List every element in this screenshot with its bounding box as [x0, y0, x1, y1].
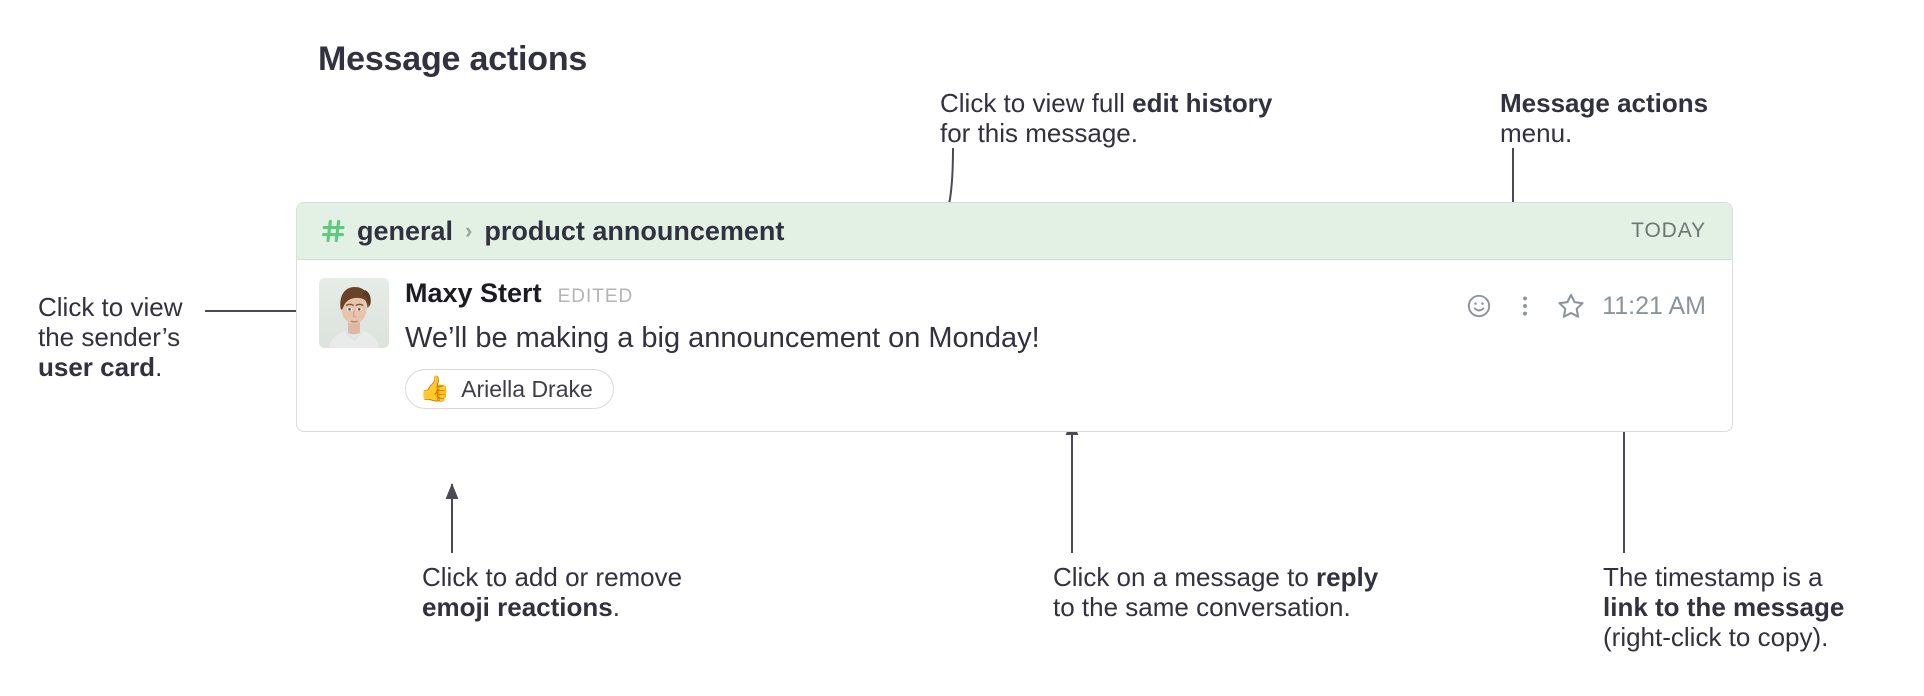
annotation-emphasis: emoji reactions [422, 592, 613, 622]
annotation-edit-history: Click to view full edit history for this… [940, 88, 1272, 148]
emoji-reaction-icon[interactable] [1456, 288, 1502, 324]
annotation-user-card-line1: Click to view [38, 292, 182, 322]
edited-badge[interactable]: EDITED [558, 286, 634, 308]
hash-icon[interactable] [321, 218, 347, 244]
annotation-reply-line1: Click on a message to reply [1053, 562, 1378, 592]
card-header: general › product announcement TODAY [297, 203, 1732, 260]
thumbs-up-icon: 👍 [419, 377, 450, 402]
date-label: TODAY [1631, 219, 1706, 243]
annotation-user-card-line2: the sender’s [38, 322, 182, 352]
avatar-image [319, 278, 389, 348]
message-actions-toolbar: 11:21 AM [1456, 288, 1706, 324]
message-actions-menu-icon[interactable] [1502, 288, 1548, 324]
sender-name[interactable]: Maxy Stert [405, 278, 542, 309]
annotation-text: Click on a message to [1053, 562, 1316, 592]
annotation-reply-line2: to the same conversation. [1053, 592, 1378, 622]
annotation-actions-menu-line2: menu. [1500, 118, 1708, 148]
annotation-emphasis: reply [1316, 562, 1378, 592]
annotation-text: . [155, 352, 162, 382]
annotation-reply: Click on a message to reply to the same … [1053, 562, 1378, 622]
annotation-user-card: Click to view the sender’s user card. [38, 292, 182, 382]
message-card: general › product announcement TODAY [296, 202, 1733, 432]
card-body[interactable]: Maxy Stert EDITED We’ll be making a big … [297, 260, 1732, 431]
annotation-edit-history-line1: Click to view full edit history [940, 88, 1272, 118]
star-icon[interactable] [1548, 288, 1594, 324]
annotation-text: Click to view full [940, 88, 1132, 118]
page-title: Message actions [318, 40, 587, 79]
annotation-emphasis: edit history [1132, 88, 1272, 118]
reaction-label: Ariella Drake [461, 376, 593, 403]
message-timestamp-link[interactable]: 11:21 AM [1602, 292, 1706, 321]
reaction-pill[interactable]: 👍 Ariella Drake [405, 369, 614, 409]
annotation-emoji-line1: Click to add or remove [422, 562, 682, 592]
annotation-timestamp: The timestamp is a link to the message (… [1603, 562, 1844, 652]
chevron-right-icon: › [465, 220, 472, 242]
annotation-emoji-reactions: Click to add or remove emoji reactions. [422, 562, 682, 622]
breadcrumb-topic[interactable]: product announcement [484, 216, 784, 247]
annotation-actions-menu: Message actions menu. [1500, 88, 1708, 148]
annotation-emphasis: user card [38, 352, 155, 382]
annotation-timestamp-line1: The timestamp is a [1603, 562, 1844, 592]
annotation-edit-history-line2: for this message. [940, 118, 1272, 148]
avatar[interactable] [319, 278, 389, 348]
annotation-text: . [613, 592, 620, 622]
annotation-timestamp-line2: link to the message [1603, 592, 1844, 622]
reactions-row: 👍 Ariella Drake [405, 369, 1706, 409]
breadcrumb-channel[interactable]: general [357, 216, 453, 247]
annotation-emphasis: link to the message [1603, 592, 1844, 622]
annotation-actions-menu-line1: Message actions [1500, 88, 1708, 118]
annotation-user-card-line3: user card. [38, 352, 182, 382]
annotation-emoji-line2: emoji reactions. [422, 592, 682, 622]
message-body[interactable]: We’ll be making a big announcement on Mo… [405, 322, 1706, 355]
annotation-timestamp-line3: (right-click to copy). [1603, 622, 1844, 652]
annotation-emphasis: Message actions [1500, 88, 1708, 118]
